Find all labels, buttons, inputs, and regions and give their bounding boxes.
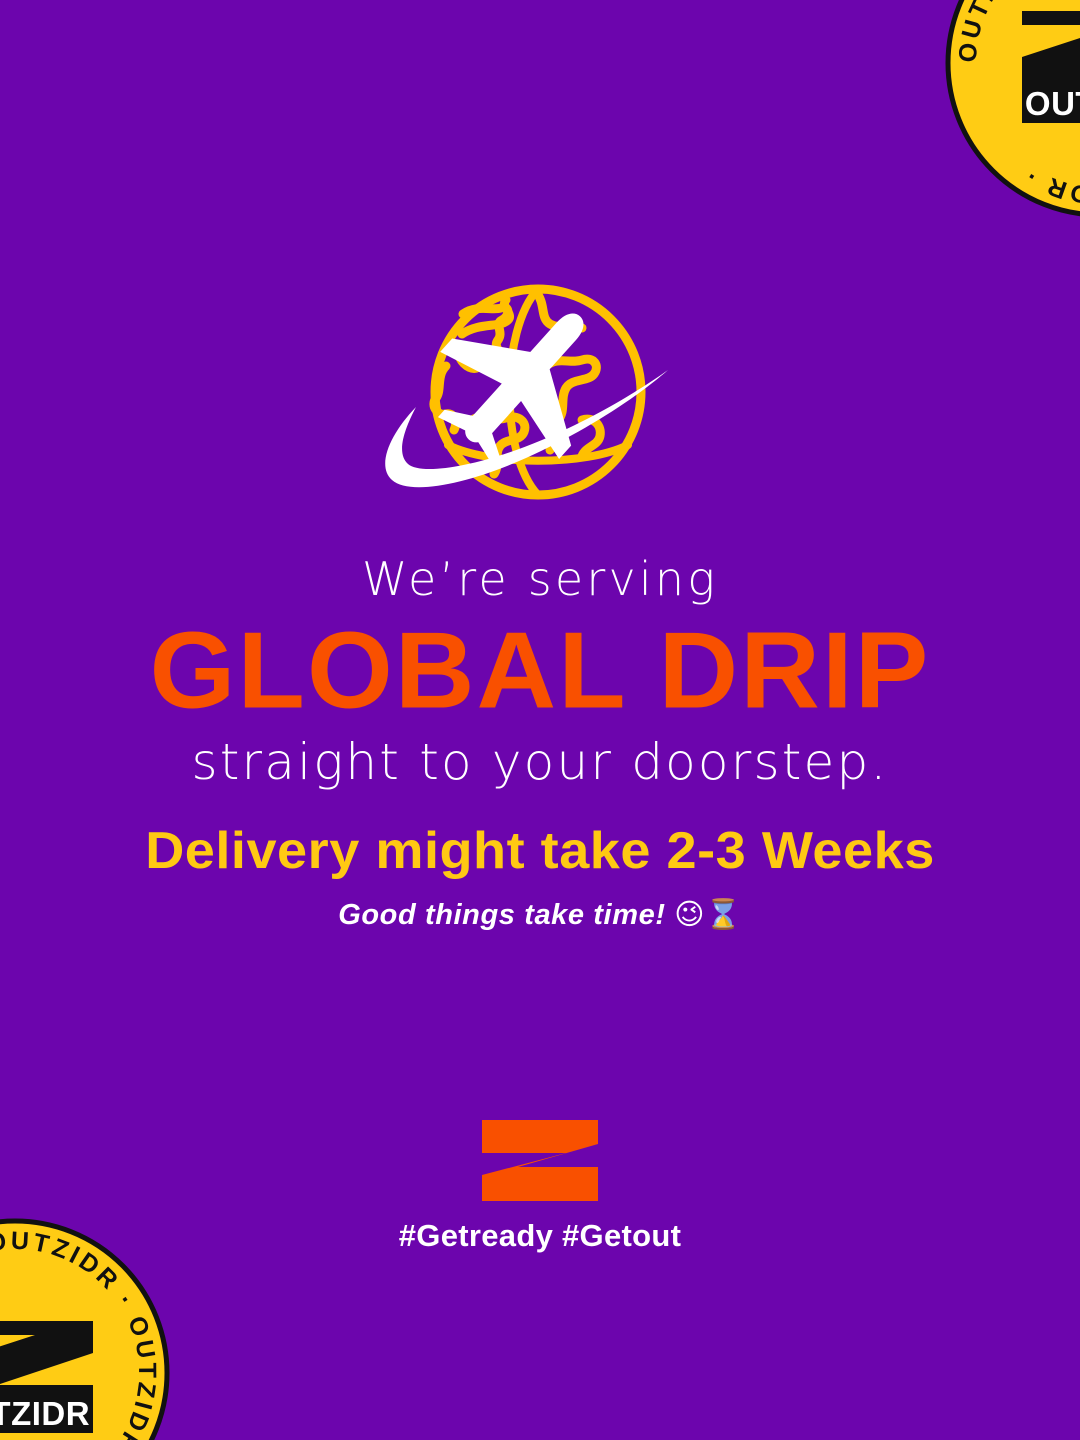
headline-block: We’re serving GLOBAL DRIP straight to yo…: [0, 548, 1080, 794]
headline-subline: straight to your doorstep.: [0, 730, 1080, 794]
delivery-headline: Delivery might take 2-3 Weeks: [0, 820, 1080, 882]
delivery-subtext: Good things take time! 😉⌛: [0, 894, 1080, 935]
outzidr-z-logo: [480, 1118, 600, 1203]
hourglass-emoji: ⌛: [705, 897, 742, 931]
headline-kicker: We’re serving: [0, 548, 1080, 610]
outzidr-badge-bottom-left: OUTZIDR · OUTZIDR · OUTZIDR · OUTZIDR · …: [0, 1218, 170, 1440]
delivery-subtext-label: Good things take time!: [338, 899, 665, 931]
globe-airplane-icon: [350, 270, 730, 520]
winking-face-emoji: 😉: [674, 897, 705, 931]
badge-center-wordmark: OUTZIDR: [1025, 85, 1080, 122]
delivery-notice: Delivery might take 2-3 Weeks Good thing…: [0, 820, 1080, 935]
promo-poster: We’re serving GLOBAL DRIP straight to yo…: [0, 0, 1080, 1440]
badge-center-wordmark: OUTZIDR: [0, 1395, 90, 1432]
headline-hero: GLOBAL DRIP: [0, 614, 1080, 728]
outzidr-badge-top-right: OUTZIDR · OUTZIDR · OUTZIDR · OUTZIDR · …: [945, 0, 1080, 218]
